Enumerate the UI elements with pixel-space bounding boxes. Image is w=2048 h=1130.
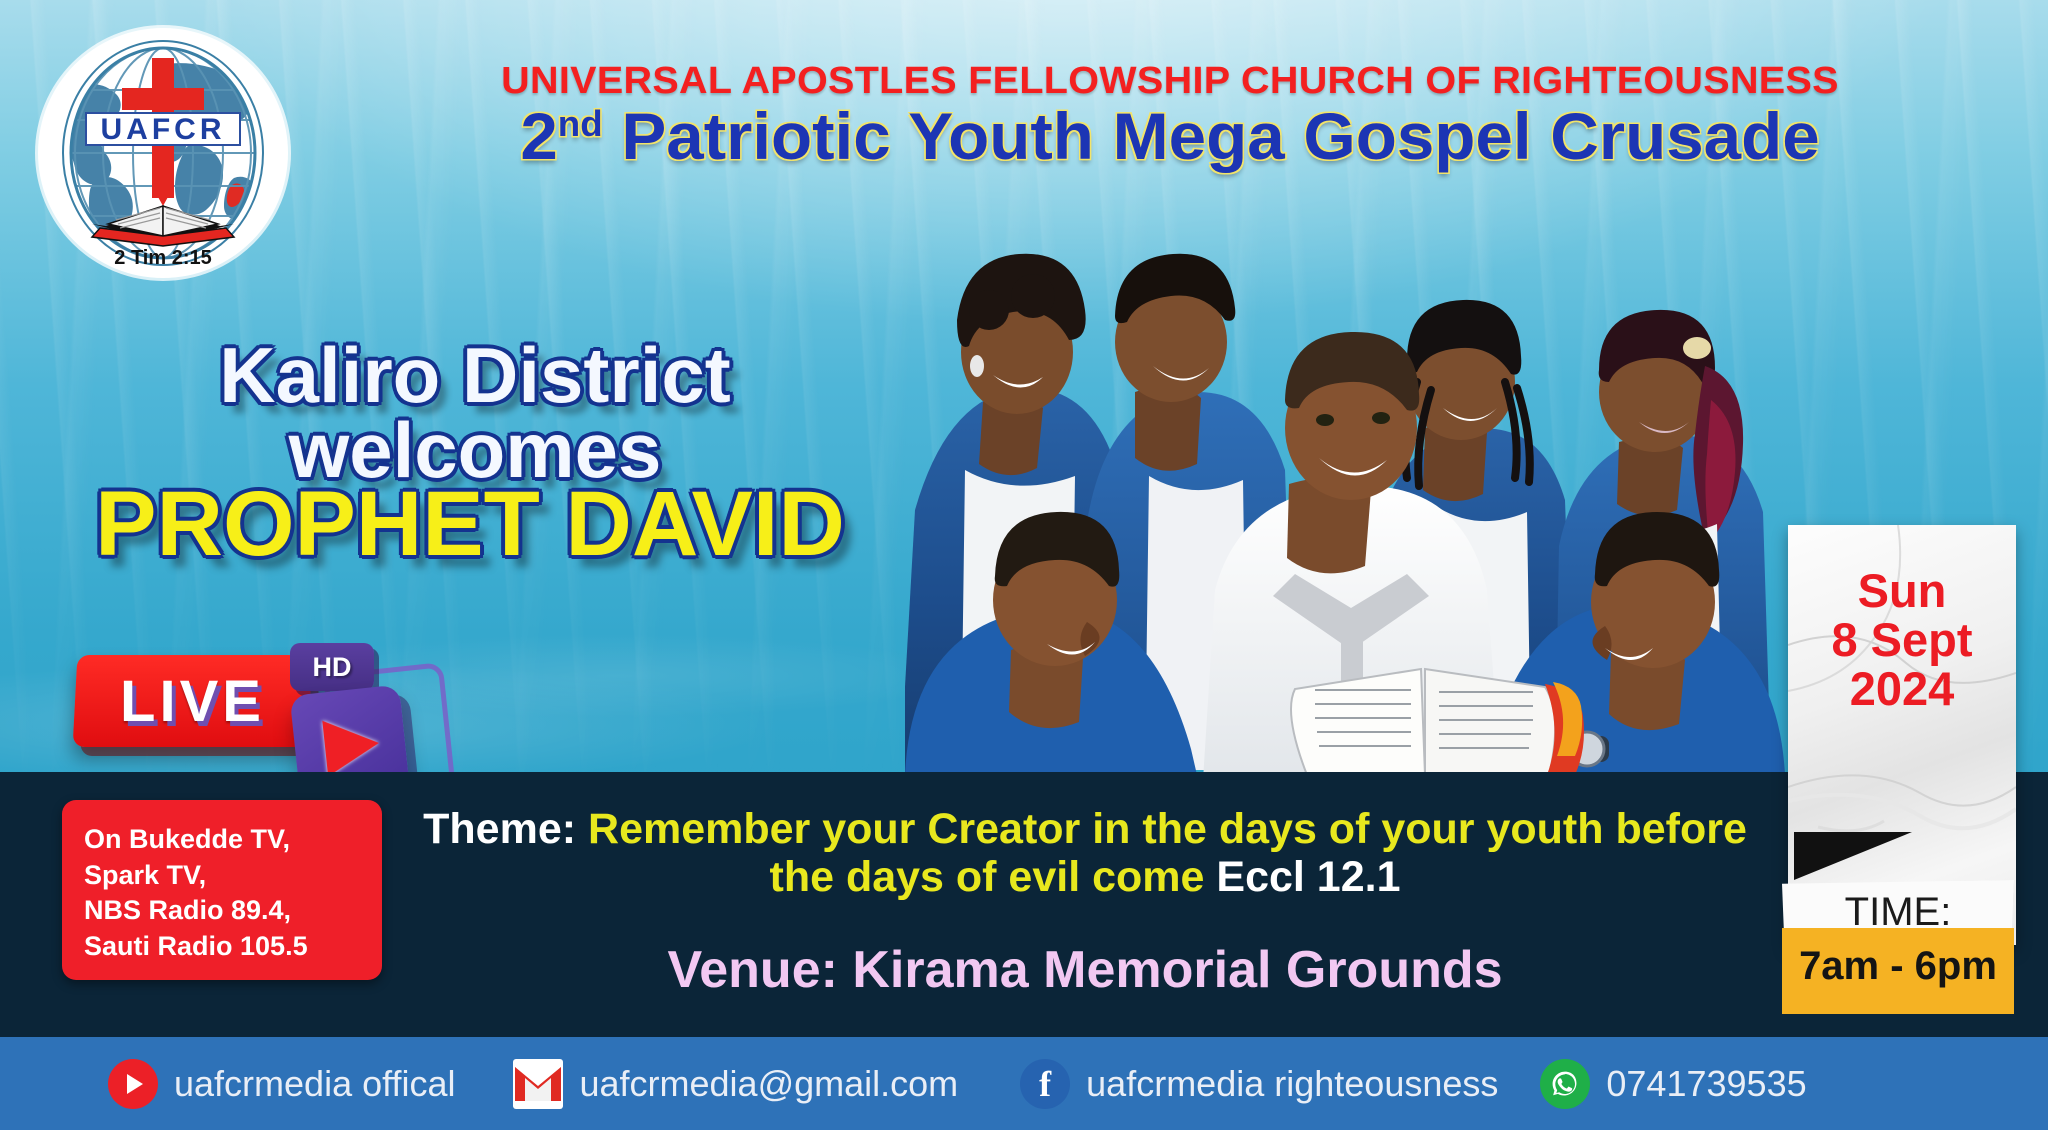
theme-text: Theme: Remember your Creator in the days… [420, 805, 1750, 901]
youth-group-illustration [905, 170, 1785, 775]
black-corner-decoration [1794, 832, 1912, 880]
live-box: LIVE [73, 655, 313, 747]
gmail-icon [513, 1059, 563, 1109]
theme-label: Theme: [423, 805, 576, 853]
logo-acronym: UAFCR [101, 113, 226, 146]
broadcast-line: Spark TV, [84, 858, 382, 894]
crusade-ordinal: 2 [520, 99, 557, 173]
youtube-handle: uafcrmedia offical [174, 1063, 455, 1105]
time-value: 7am - 6pm [1782, 944, 2014, 989]
crusade-title-text: Patriotic Youth Mega Gospel Crusade [603, 99, 1820, 173]
event-poster: UAFCR 2 Tim 2:15 UNIVERSAL APOSTLES FELL… [0, 0, 2048, 1130]
live-badge: LIVE [75, 655, 310, 747]
footer-item-youtube[interactable]: uafcrmedia offical [108, 1059, 455, 1109]
logo-verse: 2 Tim 2:15 [114, 247, 211, 269]
social-footer: uafcrmedia offical uafcrmedia@gmail.com … [0, 1037, 2048, 1130]
event-date: Sun 8 Sept 2024 [1788, 567, 2016, 714]
hd-label: HD [290, 643, 374, 691]
facebook-icon: f [1020, 1059, 1070, 1109]
live-label: LIVE [75, 655, 310, 747]
gmail-address: uafcrmedia@gmail.com [579, 1063, 958, 1105]
broadcast-line: On Bukedde TV, [84, 822, 382, 858]
theme-reference: Eccl 12.1 [1216, 853, 1400, 901]
broadcast-channels-box: On Bukedde TV, Spark TV, NBS Radio 89.4,… [62, 800, 382, 980]
footer-item-gmail[interactable]: uafcrmedia@gmail.com [513, 1059, 958, 1109]
broadcast-line: NBS Radio 89.4, [84, 893, 382, 929]
footer-item-whatsapp[interactable]: 0741739535 [1540, 1059, 1806, 1109]
organisation-name: UNIVERSAL APOSTLES FELLOWSHIP CHURCH OF … [296, 60, 2043, 103]
crusade-ordinal-suffix: nd [558, 103, 603, 144]
whatsapp-icon [1540, 1059, 1590, 1109]
welcome-line-1: Kaliro District [60, 338, 890, 413]
guest-name: PROPHET DAVID [50, 478, 890, 570]
youth-group-photo [905, 170, 1785, 775]
event-day: Sun [1788, 567, 2016, 616]
event-date-dm: 8 Sept [1788, 616, 2016, 665]
event-year: 2024 [1788, 665, 2016, 714]
facebook-handle: uafcrmedia righteousness [1086, 1063, 1498, 1105]
logo-globe-icon: UAFCR 2 Tim 2:15 [38, 28, 288, 278]
theme-body: Remember your Creator in the days of you… [588, 805, 1747, 901]
footer-item-facebook[interactable]: f uafcrmedia righteousness [1020, 1059, 1498, 1109]
venue-text: Venue: Kirama Memorial Grounds [420, 940, 1750, 1000]
welcome-heading: Kaliro District welcomes [60, 338, 890, 488]
broadcast-line: Sauti Radio 105.5 [84, 929, 382, 965]
uafcr-logo: UAFCR 2 Tim 2:15 [38, 28, 288, 278]
play-icon [322, 715, 382, 776]
hd-badge: HD [290, 643, 374, 691]
whatsapp-number: 0741739535 [1606, 1063, 1806, 1105]
crusade-title: 2nd Patriotic Youth Mega Gospel Crusade [313, 98, 2027, 174]
youtube-icon [108, 1059, 158, 1109]
time-value-box: 7am - 6pm [1782, 928, 2014, 1014]
